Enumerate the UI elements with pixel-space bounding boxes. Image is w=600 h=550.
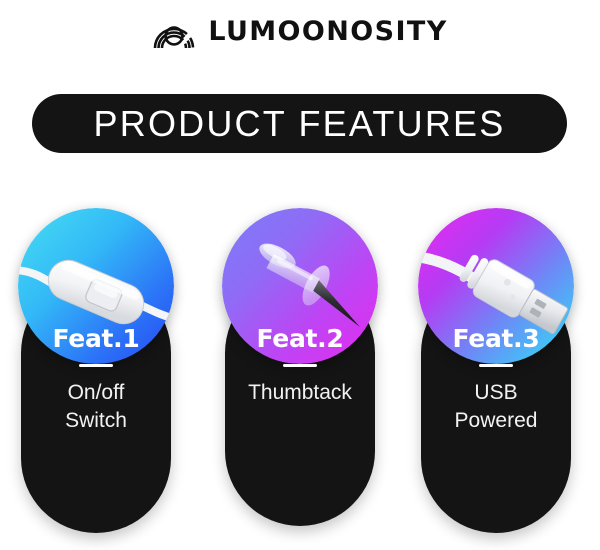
- feature-card-text: Feat.1 On/off Switch: [18, 326, 174, 434]
- feature-card-2: Feat.2 Thumbtack: [222, 208, 378, 533]
- feature-divider: [79, 364, 113, 367]
- concentric-arcs-moon-icon: [152, 11, 196, 51]
- feature-card-text: Feat.2 Thumbtack: [222, 326, 378, 407]
- feature-card-text: Feat.3 USB Powered: [418, 326, 574, 434]
- feature-description: On/off Switch: [18, 379, 174, 434]
- feature-divider: [479, 364, 513, 367]
- page-title-banner: PRODUCT FEATURES: [32, 94, 567, 153]
- feature-title: Feat.2: [222, 326, 378, 351]
- feature-description: USB Powered: [418, 379, 574, 434]
- feature-card-3: Feat.3 USB Powered: [418, 208, 574, 533]
- brand-name: LUMOONOSITY: [208, 18, 447, 45]
- feature-card-1: Feat.1 On/off Switch: [18, 208, 174, 533]
- feature-description: Thumbtack: [222, 379, 378, 407]
- feature-cards-row: Feat.1 On/off Switch: [0, 200, 600, 545]
- feature-divider: [283, 364, 317, 367]
- feature-title: Feat.3: [418, 326, 574, 351]
- brand-header: LUMOONOSITY: [0, 0, 600, 62]
- feature-title: Feat.1: [18, 326, 174, 351]
- page-title: PRODUCT FEATURES: [94, 106, 506, 142]
